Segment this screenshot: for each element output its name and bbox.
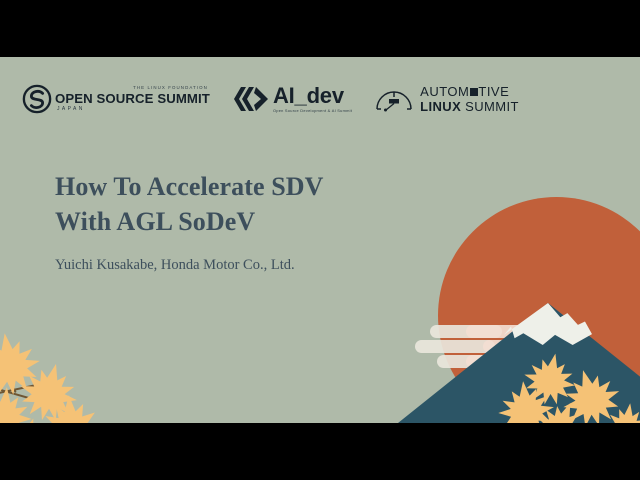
oss-eyebrow-text: THE LINUX FOUNDATION: [133, 86, 210, 90]
als-line-one: AUTOM TIVE: [420, 85, 519, 98]
als-word-linux: LINUX: [420, 99, 461, 114]
s-swirl-icon: [22, 84, 52, 114]
aidev-main-text: AI_dev: [273, 85, 352, 107]
letterbox-bottom-bar: [0, 423, 640, 480]
als-word-automotive-part1: AUTOM: [420, 85, 469, 98]
oss-text-column: THE LINUX FOUNDATION OPEN SOURCE SUMMIT …: [55, 86, 210, 111]
slide-canvas: THE LINUX FOUNDATION OPEN SOURCE SUMMIT …: [0, 57, 640, 423]
als-line-two: LINUX SUMMIT: [420, 100, 519, 113]
als-word-automotive-part2: TIVE: [478, 85, 509, 98]
oss-main-text: OPEN SOURCE SUMMIT: [55, 92, 210, 105]
slide-title-line-2: With AGL SoDeV: [55, 205, 475, 240]
logo-open-source-summit: THE LINUX FOUNDATION OPEN SOURCE SUMMIT …: [22, 84, 210, 114]
chevron-diamond-icon: [234, 85, 268, 113]
als-text-column: AUTOM TIVE LINUX SUMMIT: [420, 85, 519, 113]
presentation-slide: THE LINUX FOUNDATION OPEN SOURCE SUMMIT …: [0, 0, 640, 480]
sponsor-logo-row: THE LINUX FOUNDATION OPEN SOURCE SUMMIT …: [0, 71, 640, 127]
logo-ai-dev: AI_dev Open Source Development & AI Summ…: [234, 85, 352, 113]
speedometer-gauge-icon: [374, 86, 414, 112]
square-o-icon: [470, 88, 478, 96]
letterbox-top-bar: [0, 0, 640, 57]
aidev-tagline-text: Open Source Development & AI Summit: [273, 109, 352, 113]
slide-title-line-1: How To Accelerate SDV: [55, 170, 475, 205]
logo-automotive-linux-summit: AUTOM TIVE LINUX SUMMIT: [374, 85, 519, 113]
speaker-byline: Yuichi Kusakabe, Honda Motor Co., Ltd.: [55, 257, 475, 274]
als-word-summit: SUMMIT: [465, 99, 519, 114]
oss-region-text: JAPAN: [57, 107, 210, 112]
aidev-text-column: AI_dev Open Source Development & AI Summ…: [273, 85, 352, 113]
title-block: How To Accelerate SDV With AGL SoDeV Yui…: [55, 170, 475, 274]
